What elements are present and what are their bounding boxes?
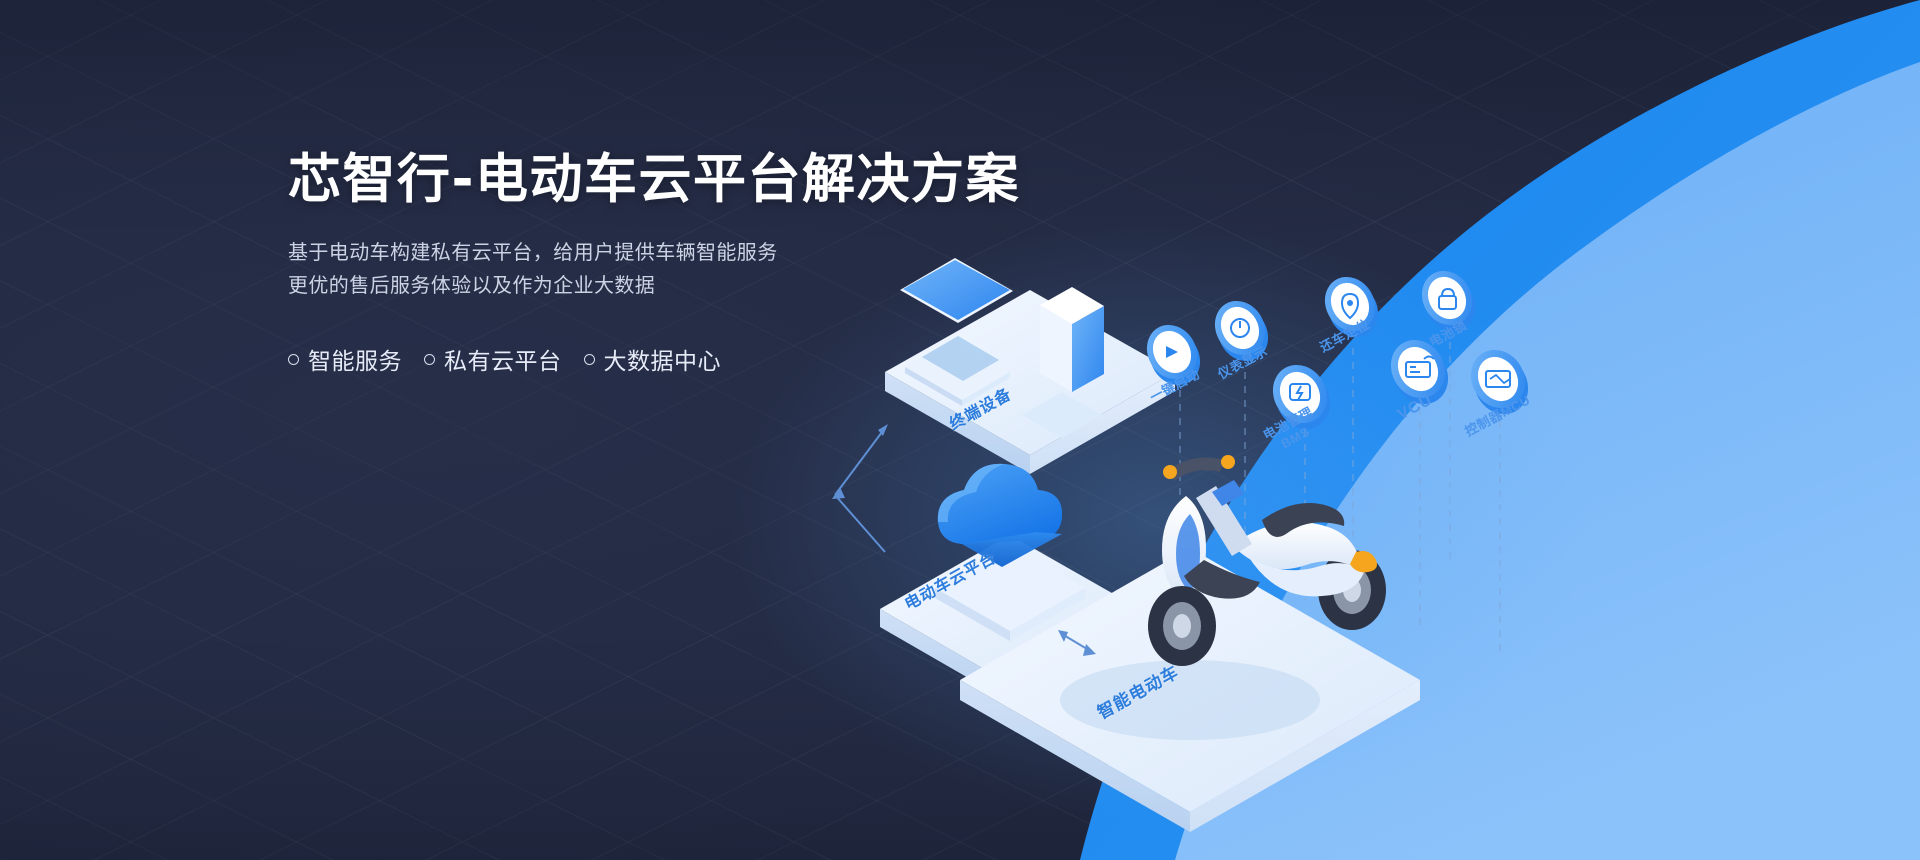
feature-label: 大数据中心 (604, 342, 722, 376)
subtitle-block: 基于电动车构建私有云平台，给用户提供车辆智能服务 更优的售后服务体验以及作为企业… (288, 237, 988, 302)
circle-bullet-icon (584, 354, 595, 365)
feature-list: 智能服务 私有云平台 大数据中心 (288, 342, 988, 376)
circle-bullet-icon (424, 354, 435, 365)
feature-item-private-cloud[interactable]: 私有云平台 (424, 342, 562, 376)
feature-label: 私有云平台 (444, 342, 562, 376)
page-title: 芯智行-电动车云平台解决方案 (288, 150, 988, 209)
circle-bullet-icon (288, 354, 299, 365)
feature-label: 智能服务 (308, 342, 402, 376)
phone-icon (1040, 287, 1104, 392)
banner-root: 芯智行-电动车云平台解决方案 基于电动车构建私有云平台，给用户提供车辆智能服务 … (0, 0, 1920, 860)
subtitle-line-1: 基于电动车构建私有云平台，给用户提供车辆智能服务 (288, 237, 988, 269)
feature-item-smart-service[interactable]: 智能服务 (288, 342, 402, 376)
copy-block: 芯智行-电动车云平台解决方案 基于电动车构建私有云平台，给用户提供车辆智能服务 … (288, 150, 988, 376)
subtitle-line-2: 更优的售后服务体验以及作为企业大数据 (288, 270, 988, 302)
feature-item-big-data-center[interactable]: 大数据中心 (584, 342, 722, 376)
front-wheel (1148, 586, 1216, 666)
